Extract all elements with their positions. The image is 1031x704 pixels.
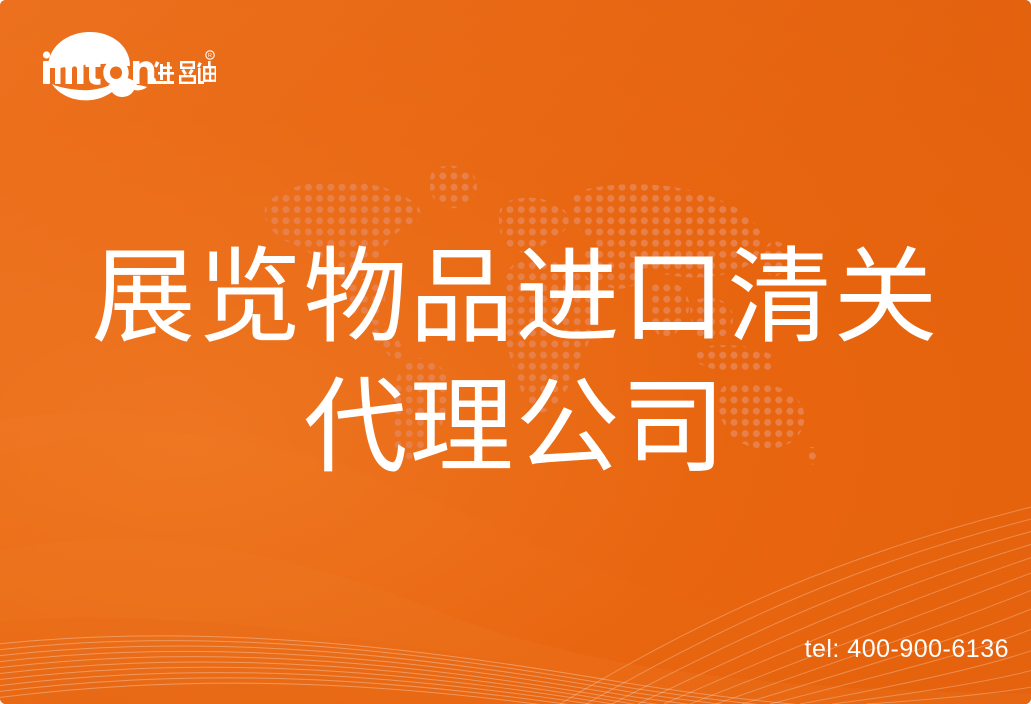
promo-banner: R 展览物品进口清关 代理公司 tel: 400-900-6136 xyxy=(0,0,1031,704)
trademark-glyph: R xyxy=(208,53,212,59)
headline: 展览物品进口清关 代理公司 xyxy=(0,232,1031,492)
headline-line-1: 展览物品进口清关 xyxy=(0,232,1031,362)
brand-logo[interactable]: R xyxy=(34,28,216,104)
contact-phone[interactable]: tel: 400-900-6136 xyxy=(805,637,1009,662)
headline-line-2: 代理公司 xyxy=(0,362,1031,492)
logo-chinese-characters xyxy=(152,61,216,84)
